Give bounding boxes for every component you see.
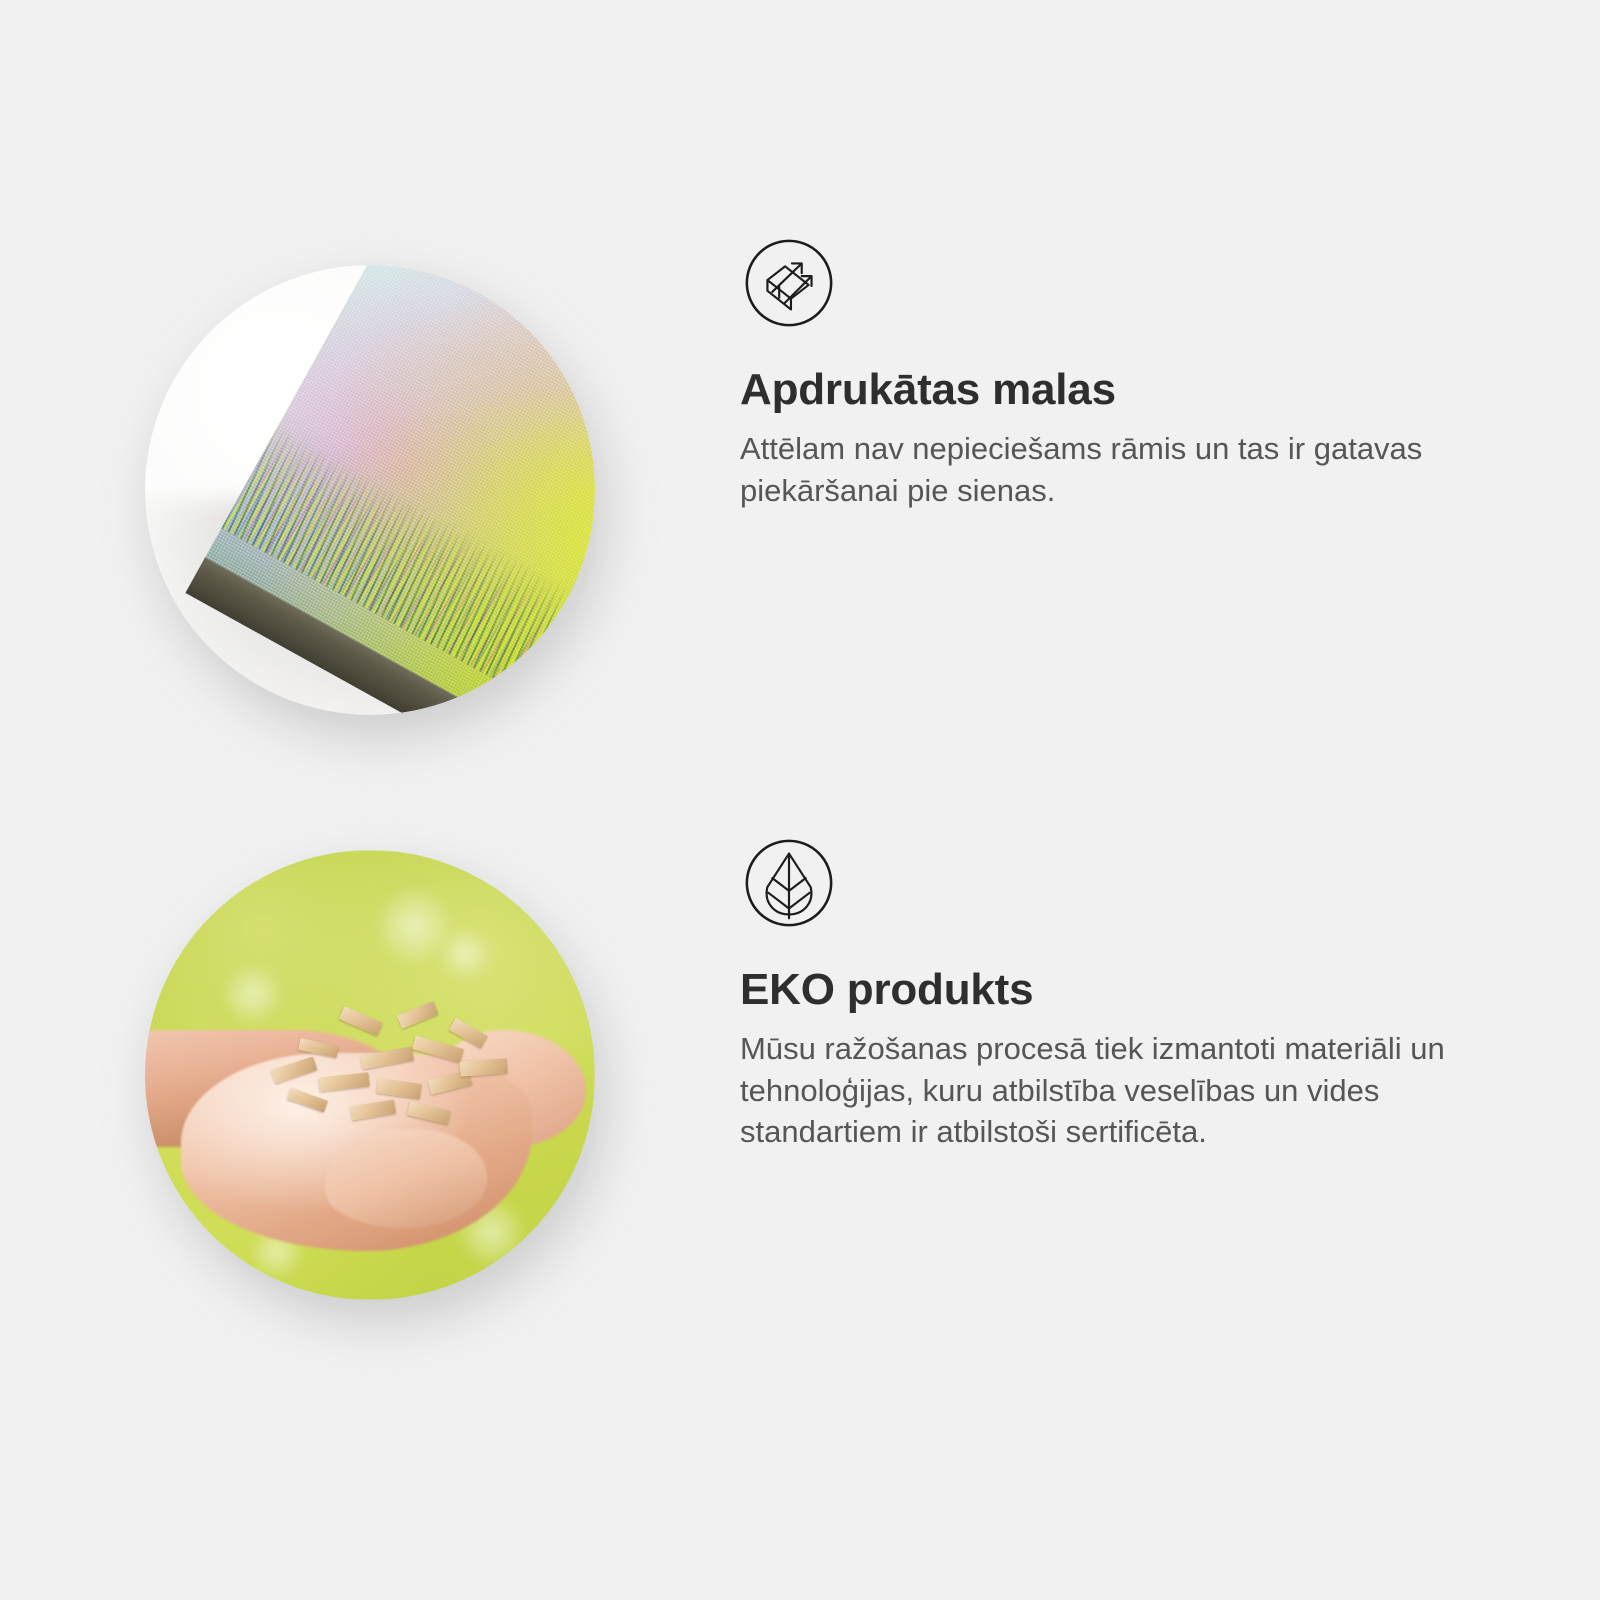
wrapped-canvas-edges-icon (740, 234, 1600, 332)
wood-chip (319, 1073, 370, 1092)
bokeh-highlight (379, 891, 449, 961)
thumb (325, 1129, 487, 1228)
wood-chip (350, 1100, 396, 1121)
bokeh-highlight (442, 931, 488, 977)
text-column-eco-product: EKO produkts Mūsu ražošanas procesā tiek… (740, 830, 1600, 1153)
feature-title-printed-edges: Apdrukātas malas (740, 366, 1600, 414)
wood-chip (407, 1101, 451, 1124)
feature-body-eco-product: Mūsu ražošanas procesā tiek izmantoti ma… (740, 1028, 1460, 1153)
wood-chips-pile (262, 981, 523, 1134)
wood-chip (397, 1001, 438, 1028)
wood-chip (298, 1038, 339, 1058)
wood-chip (287, 1087, 328, 1112)
leaf-icon (740, 834, 1600, 932)
wood-chip (460, 1058, 508, 1077)
text-column-printed-edges: Apdrukātas malas Attēlam nav nepieciešam… (740, 230, 1600, 511)
wood-chip (271, 1057, 317, 1084)
wood-chips-in-hands-photo (145, 850, 595, 1300)
canvas-corner-photo (145, 265, 595, 715)
feature-body-printed-edges: Attēlam nav nepieciešams rāmis un tas ir… (740, 428, 1460, 511)
wood-chip (376, 1078, 422, 1099)
media-column-eco-product (0, 830, 740, 1300)
wood-chip (360, 1046, 414, 1069)
feature-row-eco-product: EKO produkts Mūsu ražošanas procesā tiek… (0, 830, 1600, 1300)
wood-chip (449, 1018, 488, 1048)
feature-row-printed-edges: Apdrukātas malas Attēlam nav nepieciešam… (0, 230, 1600, 715)
canvas-corner-photo-inner (145, 265, 595, 715)
wood-chip (412, 1035, 463, 1062)
feature-panel: Apdrukātas malas Attēlam nav nepieciešam… (0, 0, 1600, 1600)
media-column-printed-edges (0, 230, 740, 715)
wood-chips-photo-inner (145, 850, 595, 1300)
wood-chip (339, 1006, 383, 1036)
feature-title-eco-product: EKO produkts (740, 966, 1600, 1014)
